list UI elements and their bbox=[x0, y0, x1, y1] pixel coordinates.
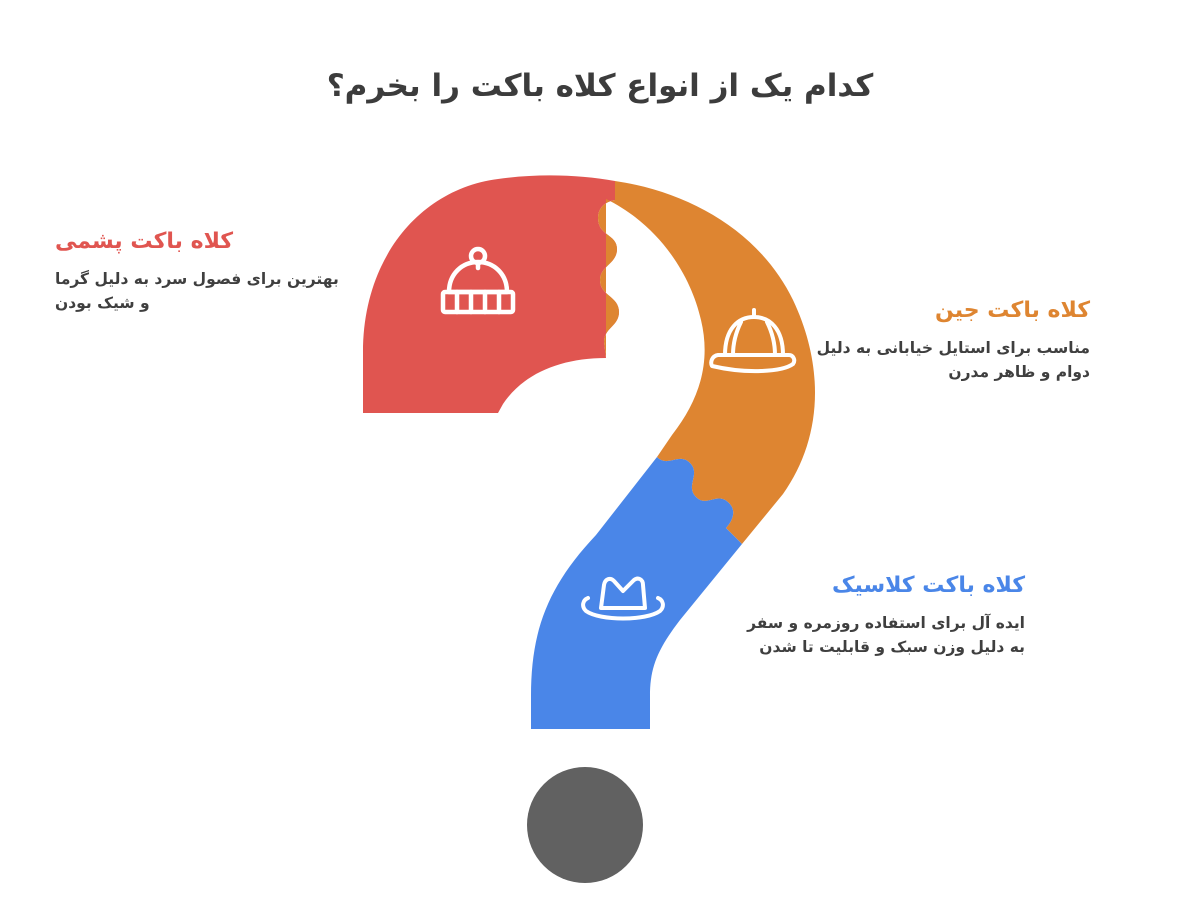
callout-wool[interactable]: کلاه باکت پشمی بهترین برای فصول سرد به د… bbox=[55, 228, 340, 315]
callout-wool-title: کلاه باکت پشمی bbox=[55, 228, 340, 257]
callout-wool-description: بهترین برای فصول سرد به دلیل گرما و شیک … bbox=[55, 267, 340, 315]
infographic-canvas: کدام یک از انواع کلاه باکت را بخرم؟ bbox=[0, 0, 1200, 923]
callout-denim-description: مناسب برای استایل خیابانی به دلیل دوام و… bbox=[805, 336, 1090, 384]
question-mark-puzzle-diagram bbox=[0, 0, 1200, 923]
puzzle-piece-denim[interactable] bbox=[598, 181, 815, 544]
puzzle-piece-wool[interactable] bbox=[363, 175, 619, 413]
callout-denim[interactable]: کلاه باکت جین مناسب برای استایل خیابانی … bbox=[805, 297, 1090, 384]
callout-classic-description: ایده آل برای استفاده روزمره و سفر به دلی… bbox=[740, 611, 1025, 659]
callout-classic-title: کلاه باکت کلاسیک bbox=[740, 572, 1025, 601]
callout-classic[interactable]: کلاه باکت کلاسیک ایده آل برای استفاده رو… bbox=[740, 572, 1025, 659]
callout-denim-title: کلاه باکت جین bbox=[805, 297, 1090, 326]
question-mark-dot bbox=[527, 767, 643, 883]
